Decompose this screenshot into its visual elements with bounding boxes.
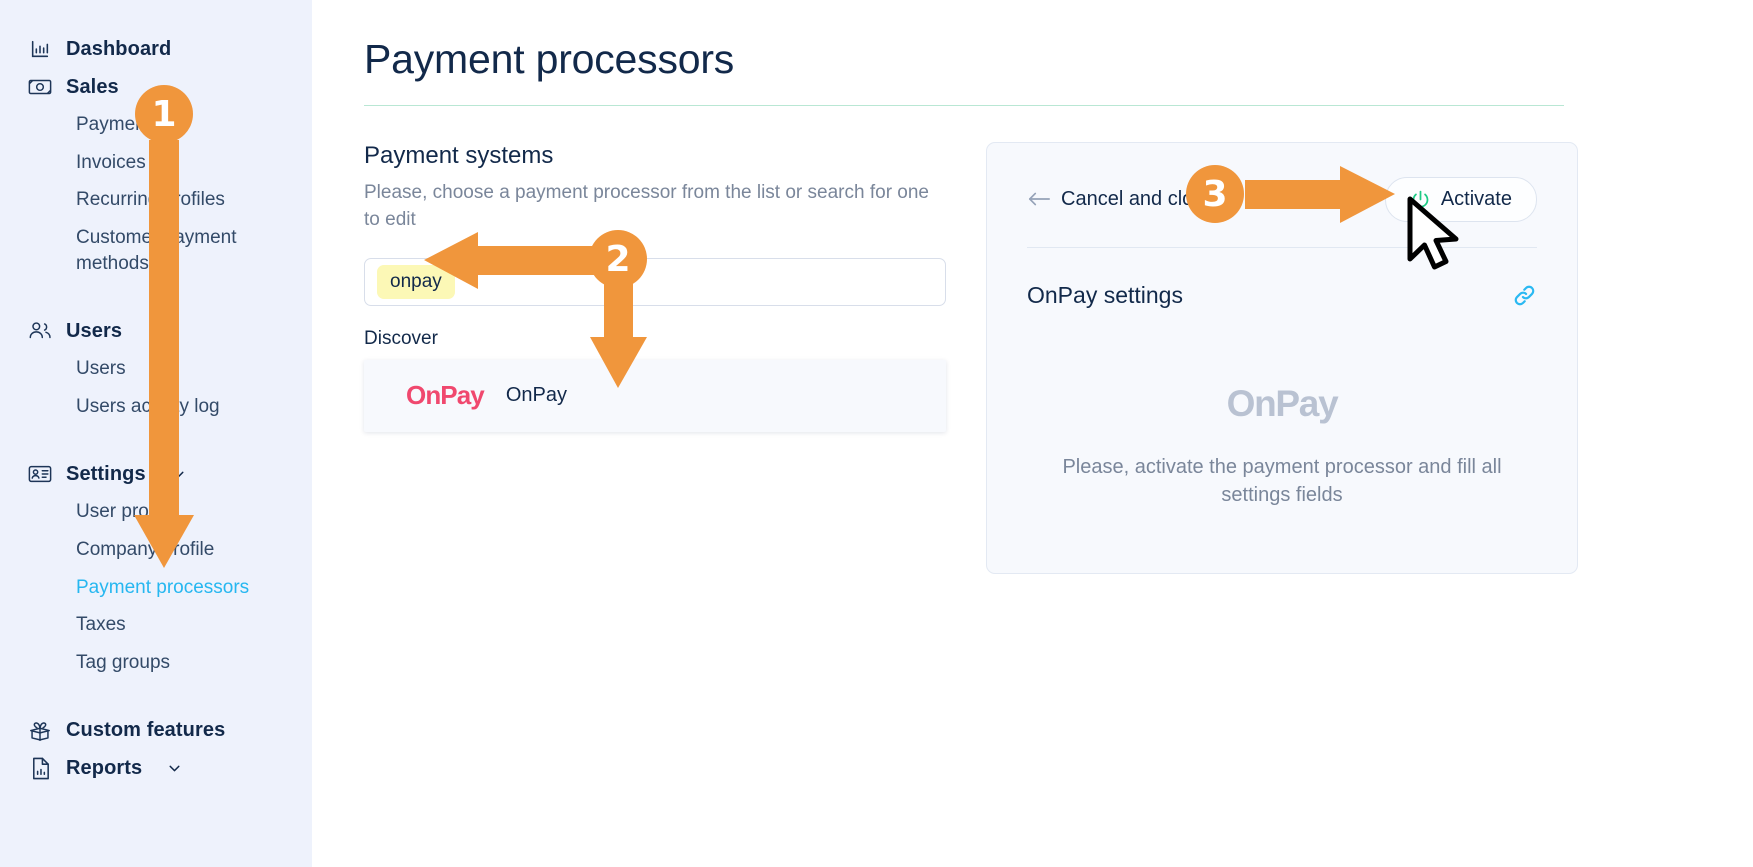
sidebar-item-label: Users xyxy=(66,320,122,343)
chevron-down-icon[interactable] xyxy=(170,466,187,483)
payment-systems-section: Payment systems Please, choose a payment… xyxy=(364,142,956,432)
sidebar-item-taxes[interactable]: Taxes xyxy=(0,606,290,644)
sidebar-item-custom-features[interactable]: Custom features xyxy=(0,712,312,750)
sidebar-item-tag-groups[interactable]: Tag groups xyxy=(0,644,290,682)
panel-divider xyxy=(1027,247,1537,248)
sidebar-item-reports[interactable]: Reports xyxy=(0,750,312,788)
activate-button[interactable]: Activate xyxy=(1385,177,1537,222)
chevron-down-icon[interactable] xyxy=(146,323,163,340)
activate-label: Activate xyxy=(1441,188,1512,211)
sidebar: Dashboard Sales Payments Invoices Recurr… xyxy=(0,0,312,867)
link-icon[interactable] xyxy=(1512,283,1537,308)
sidebar-item-invoices[interactable]: Invoices xyxy=(0,144,290,182)
onpay-settings-title: OnPay settings xyxy=(1027,282,1183,309)
sidebar-item-customer-payment-methods[interactable]: Customer payment methods xyxy=(0,219,290,282)
report-doc-icon xyxy=(28,757,52,781)
sidebar-item-label: Reports xyxy=(66,757,142,780)
sidebar-item-company-profile[interactable]: Company profile xyxy=(0,531,290,569)
discover-label: Discover xyxy=(364,328,956,350)
list-item-label: OnPay xyxy=(506,384,567,407)
search-input[interactable]: onpay xyxy=(364,258,946,306)
discover-result-list: OnPay OnPay xyxy=(364,360,946,432)
sidebar-item-label: Settings xyxy=(66,463,146,486)
cancel-and-close-label: Cancel and close xyxy=(1061,188,1214,211)
sidebar-item-users-activity-log[interactable]: Users activity log xyxy=(0,388,290,426)
main-content: Payment processors Payment systems Pleas… xyxy=(312,0,1753,867)
search-tag-onpay[interactable]: onpay xyxy=(377,265,455,299)
users-icon xyxy=(28,319,52,343)
sidebar-item-dashboard[interactable]: Dashboard xyxy=(0,30,312,68)
onpay-logo-ghost: OnPay xyxy=(1027,383,1537,425)
panel-empty-state: OnPay Please, activate the payment proce… xyxy=(1027,383,1537,510)
sidebar-item-sales[interactable]: Sales xyxy=(0,68,312,106)
sidebar-item-payment-processors[interactable]: Payment processors xyxy=(0,569,290,607)
payment-systems-description: Please, choose a payment processor from … xyxy=(364,180,939,234)
page-title: Payment processors xyxy=(364,36,1713,83)
onpay-logo: OnPay xyxy=(406,380,484,411)
arrow-left-icon xyxy=(1027,190,1051,208)
sidebar-item-users[interactable]: Users xyxy=(0,312,312,350)
sidebar-item-users-list[interactable]: Users xyxy=(0,350,290,388)
sidebar-item-label: Custom features xyxy=(66,719,225,742)
onpay-settings-row: OnPay settings xyxy=(1027,282,1537,309)
sidebar-item-user-profile[interactable]: User profile xyxy=(0,493,290,531)
bar-chart-icon xyxy=(28,37,52,61)
gift-box-icon xyxy=(28,719,52,743)
processor-detail-panel: Cancel and close Activate OnPay settings xyxy=(986,142,1578,574)
banknote-icon xyxy=(28,75,52,99)
panel-empty-text: Please, activate the payment processor a… xyxy=(1032,453,1532,510)
sidebar-item-recurring-profiles[interactable]: Recurring profiles xyxy=(0,181,290,219)
sidebar-item-payments[interactable]: Payments xyxy=(0,106,290,144)
panel-header: Cancel and close Activate xyxy=(1027,173,1537,225)
id-card-icon xyxy=(28,462,52,486)
app-root: Dashboard Sales Payments Invoices Recurr… xyxy=(0,0,1753,867)
chevron-down-icon[interactable] xyxy=(166,760,183,777)
power-icon xyxy=(1410,189,1431,210)
sidebar-item-label: Dashboard xyxy=(66,38,171,61)
list-item[interactable]: OnPay OnPay xyxy=(364,360,946,432)
sidebar-item-label: Sales xyxy=(66,76,119,99)
payment-systems-heading: Payment systems xyxy=(364,142,956,170)
cancel-and-close-button[interactable]: Cancel and close xyxy=(1027,188,1214,211)
sidebar-item-settings[interactable]: Settings xyxy=(0,455,312,493)
title-divider xyxy=(364,105,1564,106)
